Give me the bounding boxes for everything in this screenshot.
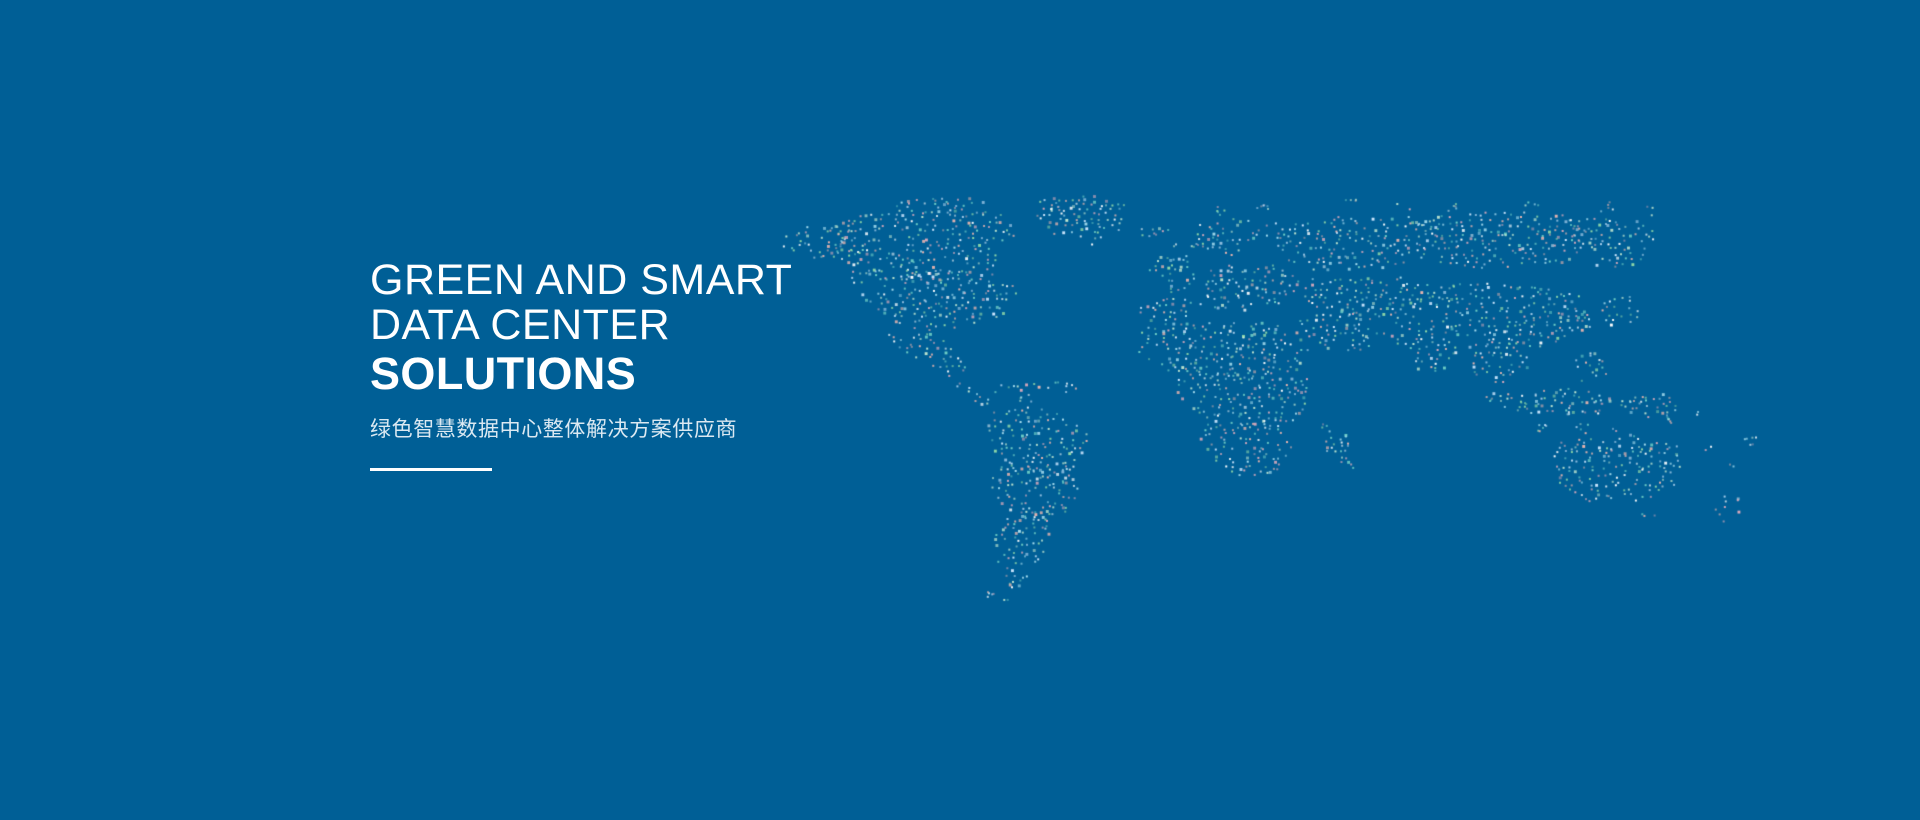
hero-banner: GREEN AND SMART DATA CENTER SOLUTIONS 绿色… <box>0 0 1920 820</box>
headline-line-3: SOLUTIONS <box>370 348 1130 400</box>
headline-line-1: GREEN AND SMART <box>370 258 1130 303</box>
accent-rule <box>370 468 492 471</box>
hero-subtitle: 绿色智慧数据中心整体解决方案供应商 <box>370 416 1130 444</box>
headline-line-2: DATA CENTER <box>370 303 1130 348</box>
hero-text-block: GREEN AND SMART DATA CENTER SOLUTIONS 绿色… <box>370 258 1130 471</box>
